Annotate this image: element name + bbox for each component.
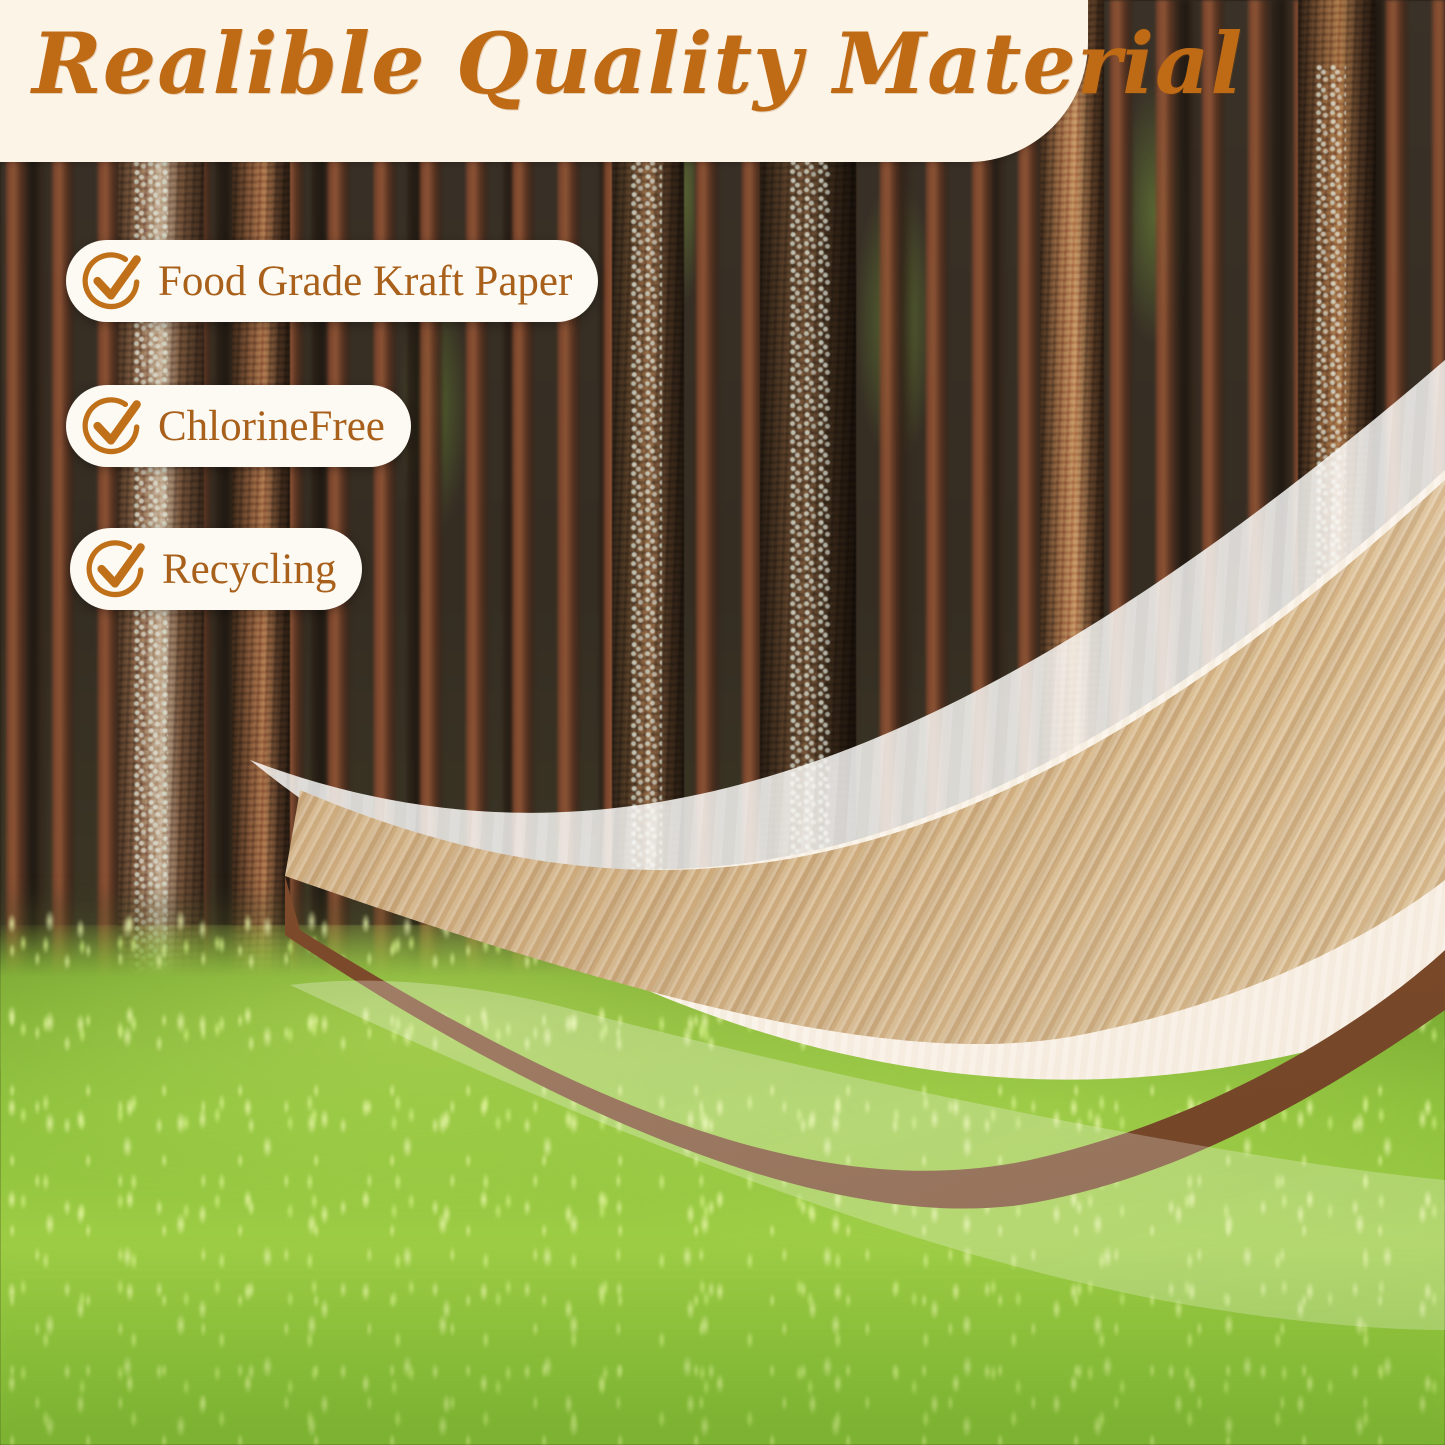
product-layers bbox=[0, 0, 1445, 1445]
feature-pill-recycling: Recycling bbox=[70, 528, 362, 610]
feature-pill-food-grade-kraft-paper: Food Grade Kraft Paper bbox=[66, 240, 598, 322]
product-infographic: Realible Quality Material Food Grade Kra… bbox=[0, 0, 1445, 1445]
feature-label: Food Grade Kraft Paper bbox=[158, 260, 572, 303]
title-banner: Realible Quality Material bbox=[0, 0, 1088, 162]
feature-pill-chlorinefree: ChlorineFree bbox=[66, 385, 411, 467]
page-title: Realible Quality Material bbox=[32, 4, 1042, 124]
circle-check-icon bbox=[84, 536, 150, 602]
circle-check-icon bbox=[80, 393, 146, 459]
feature-label: ChlorineFree bbox=[158, 405, 385, 448]
feature-label: Recycling bbox=[162, 548, 336, 591]
circle-check-icon bbox=[80, 248, 146, 314]
